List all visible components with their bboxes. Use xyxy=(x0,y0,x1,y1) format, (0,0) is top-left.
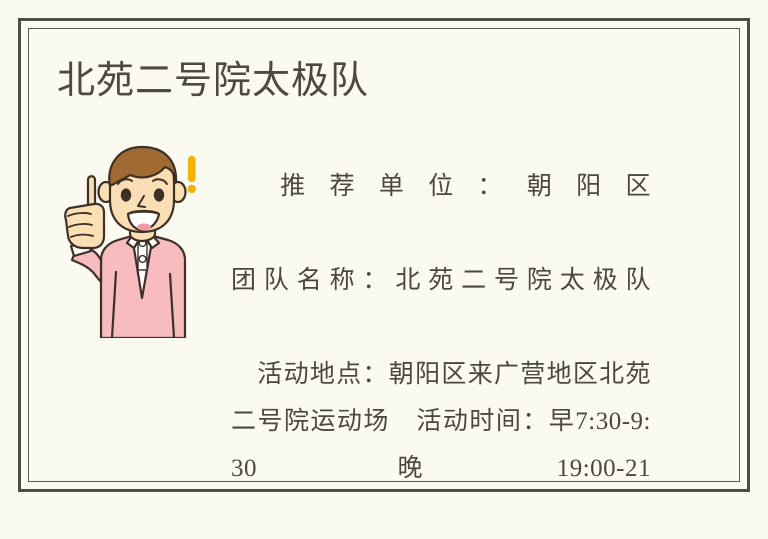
poster-page: 北苑二号院太极队 xyxy=(0,0,768,510)
man-pointing-up-illustration xyxy=(58,142,210,338)
info-line-location-and-time: 活动地点：朝阳区来广营地区北苑二号院运动场 活动时间：早7:30-9:30 晚1… xyxy=(231,351,651,539)
page-title: 北苑二号院太极队 xyxy=(57,57,369,105)
info-text-block: 推荐单位：朝阳区 团队名称：北苑二号院太极队 活动地点：朝阳区来广营地区北苑二号… xyxy=(231,163,651,539)
info-line-recommending-unit: 推荐单位：朝阳区 xyxy=(231,163,651,257)
info-line-team-name: 团队名称：北苑二号院太极队 xyxy=(231,257,651,351)
exclamation-mark xyxy=(188,156,196,193)
